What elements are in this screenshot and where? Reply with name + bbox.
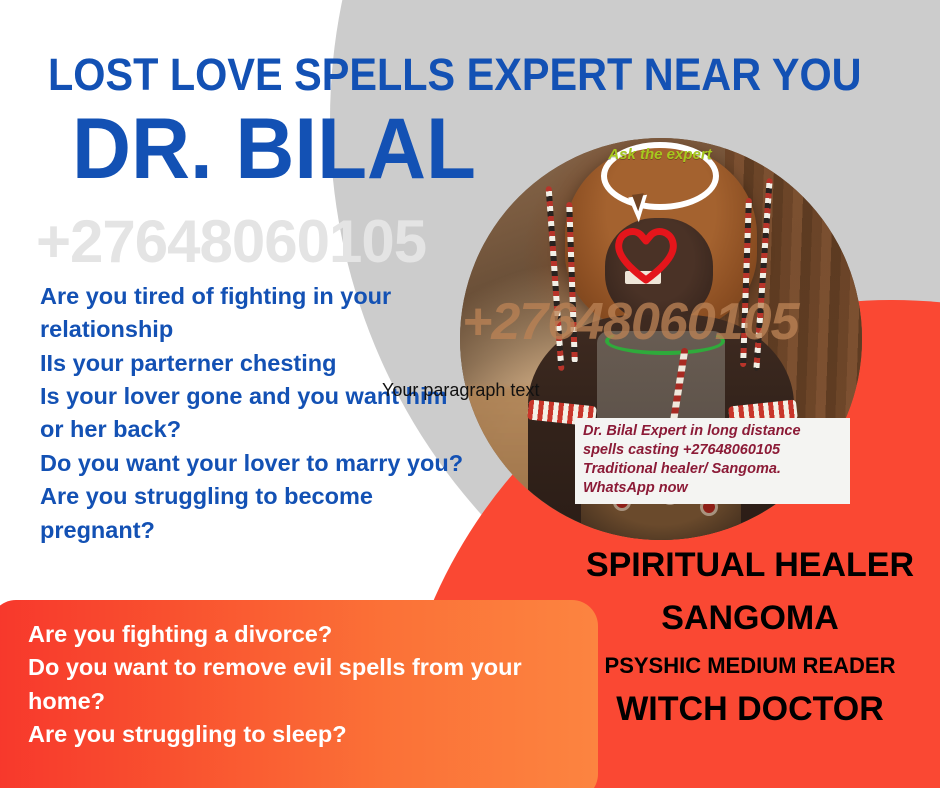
- phone-number-large[interactable]: +27648060105: [36, 212, 426, 272]
- service-sangoma: SANGOMA: [560, 598, 940, 639]
- photo-caption-banner: Dr. Bilal Expert in long distance spells…: [575, 418, 850, 504]
- paragraph-placeholder-text: Your paragraph text: [382, 380, 539, 401]
- service-psychic-medium-reader: PSYSHIC MEDIUM READER: [560, 653, 940, 679]
- blue-question-list: Are you tired of fighting in your relati…: [40, 280, 470, 547]
- service-spiritual-healer: SPIRITUAL HEALER: [560, 545, 940, 586]
- photo-green-necklace-detail: [605, 327, 726, 355]
- page-title: LOST LOVE SPELLS EXPERT NEAR YOU: [48, 52, 862, 97]
- heart-outline-icon: [614, 226, 678, 284]
- list-item: Are you fighting a divorce?: [28, 618, 573, 651]
- speech-bubble-tail-inner: [632, 193, 646, 212]
- list-item: Are you tired of fighting in your relati…: [40, 280, 470, 347]
- services-list: SPIRITUAL HEALER SANGOMA PSYSHIC MEDIUM …: [560, 545, 940, 730]
- poster-canvas: LOST LOVE SPELLS EXPERT NEAR YOU DR. BIL…: [0, 0, 940, 788]
- speech-bubble-label: Ask the expert: [604, 144, 716, 166]
- service-witch-doctor: WITCH DOCTOR: [560, 689, 940, 730]
- orange-question-list: Are you fighting a divorce? Do you want …: [28, 618, 573, 751]
- list-item: Do you want your lover to marry you?: [40, 447, 470, 480]
- list-item: Are you struggling to sleep?: [28, 718, 573, 751]
- list-item: Are you struggling to become pregnant?: [40, 480, 470, 547]
- practitioner-name: DR. BILAL: [72, 106, 476, 192]
- list-item: IIs your parterner chesting: [40, 347, 470, 380]
- list-item: Do you want to remove evil spells from y…: [28, 651, 573, 718]
